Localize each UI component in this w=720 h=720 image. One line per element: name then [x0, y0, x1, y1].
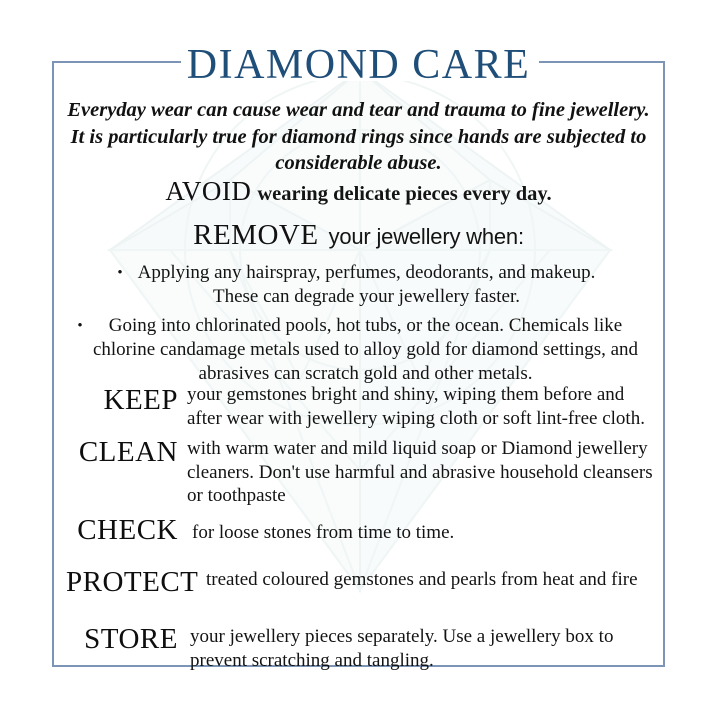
instruction-keyword: CLEAN	[66, 437, 178, 467]
list-item: • Applying any hairspray, perfumes, deod…	[68, 261, 649, 309]
instruction-keep: KEEP your gemstones bright and shiny, wi…	[66, 383, 653, 430]
list-item-text: Applying any hairspray, perfumes, deodor…	[128, 261, 649, 309]
avoid-keyword: AVOID	[165, 176, 251, 206]
avoid-line: AVOIDwearing delicate pieces every day.	[62, 176, 655, 207]
bullet-dot-icon: •	[112, 261, 128, 285]
remove-line: REMOVEyour jewellery when:	[62, 219, 655, 252]
poster-content: DIAMOND CARE Everyday wear can cause wea…	[52, 61, 665, 667]
avoid-text: wearing delicate pieces every day.	[251, 183, 551, 205]
intro-paragraph: Everyday wear can cause wear and tear an…	[64, 97, 653, 177]
instruction-protect: PROTECT treated coloured gemstones and p…	[66, 566, 653, 597]
remove-bullet-list: • Applying any hairspray, perfumes, deod…	[68, 261, 649, 391]
diamond-care-poster: DIAMOND CARE Everyday wear can cause wea…	[0, 0, 720, 720]
list-item-text: Going into chlorinated pools, hot tubs, …	[88, 314, 649, 386]
instruction-keyword: PROTECT	[66, 566, 196, 597]
instruction-text: with warm water and mild liquid soap or …	[178, 437, 653, 508]
instruction-clean: CLEAN with warm water and mild liquid so…	[66, 437, 653, 508]
instruction-store: STORE your jewellery pieces separately. …	[66, 623, 653, 672]
instruction-text: treated coloured gemstones and pearls fr…	[196, 566, 653, 592]
instruction-keyword: CHECK	[66, 514, 178, 545]
bullet-dot-icon: •	[72, 314, 88, 338]
page-title: DIAMOND CARE	[52, 42, 665, 88]
instruction-keyword: KEEP	[66, 383, 178, 415]
instruction-keyword: STORE	[66, 623, 178, 654]
instruction-text: for loose stones from time to time.	[178, 514, 653, 545]
instruction-text: your gemstones bright and shiny, wiping …	[178, 383, 653, 430]
remove-keyword: REMOVE	[193, 219, 318, 251]
instruction-check: CHECK for loose stones from time to time…	[66, 514, 653, 545]
instruction-text: your jewellery pieces separately. Use a …	[178, 623, 653, 672]
remove-text: your jewellery when:	[319, 224, 524, 249]
list-item: • Going into chlorinated pools, hot tubs…	[68, 314, 649, 386]
